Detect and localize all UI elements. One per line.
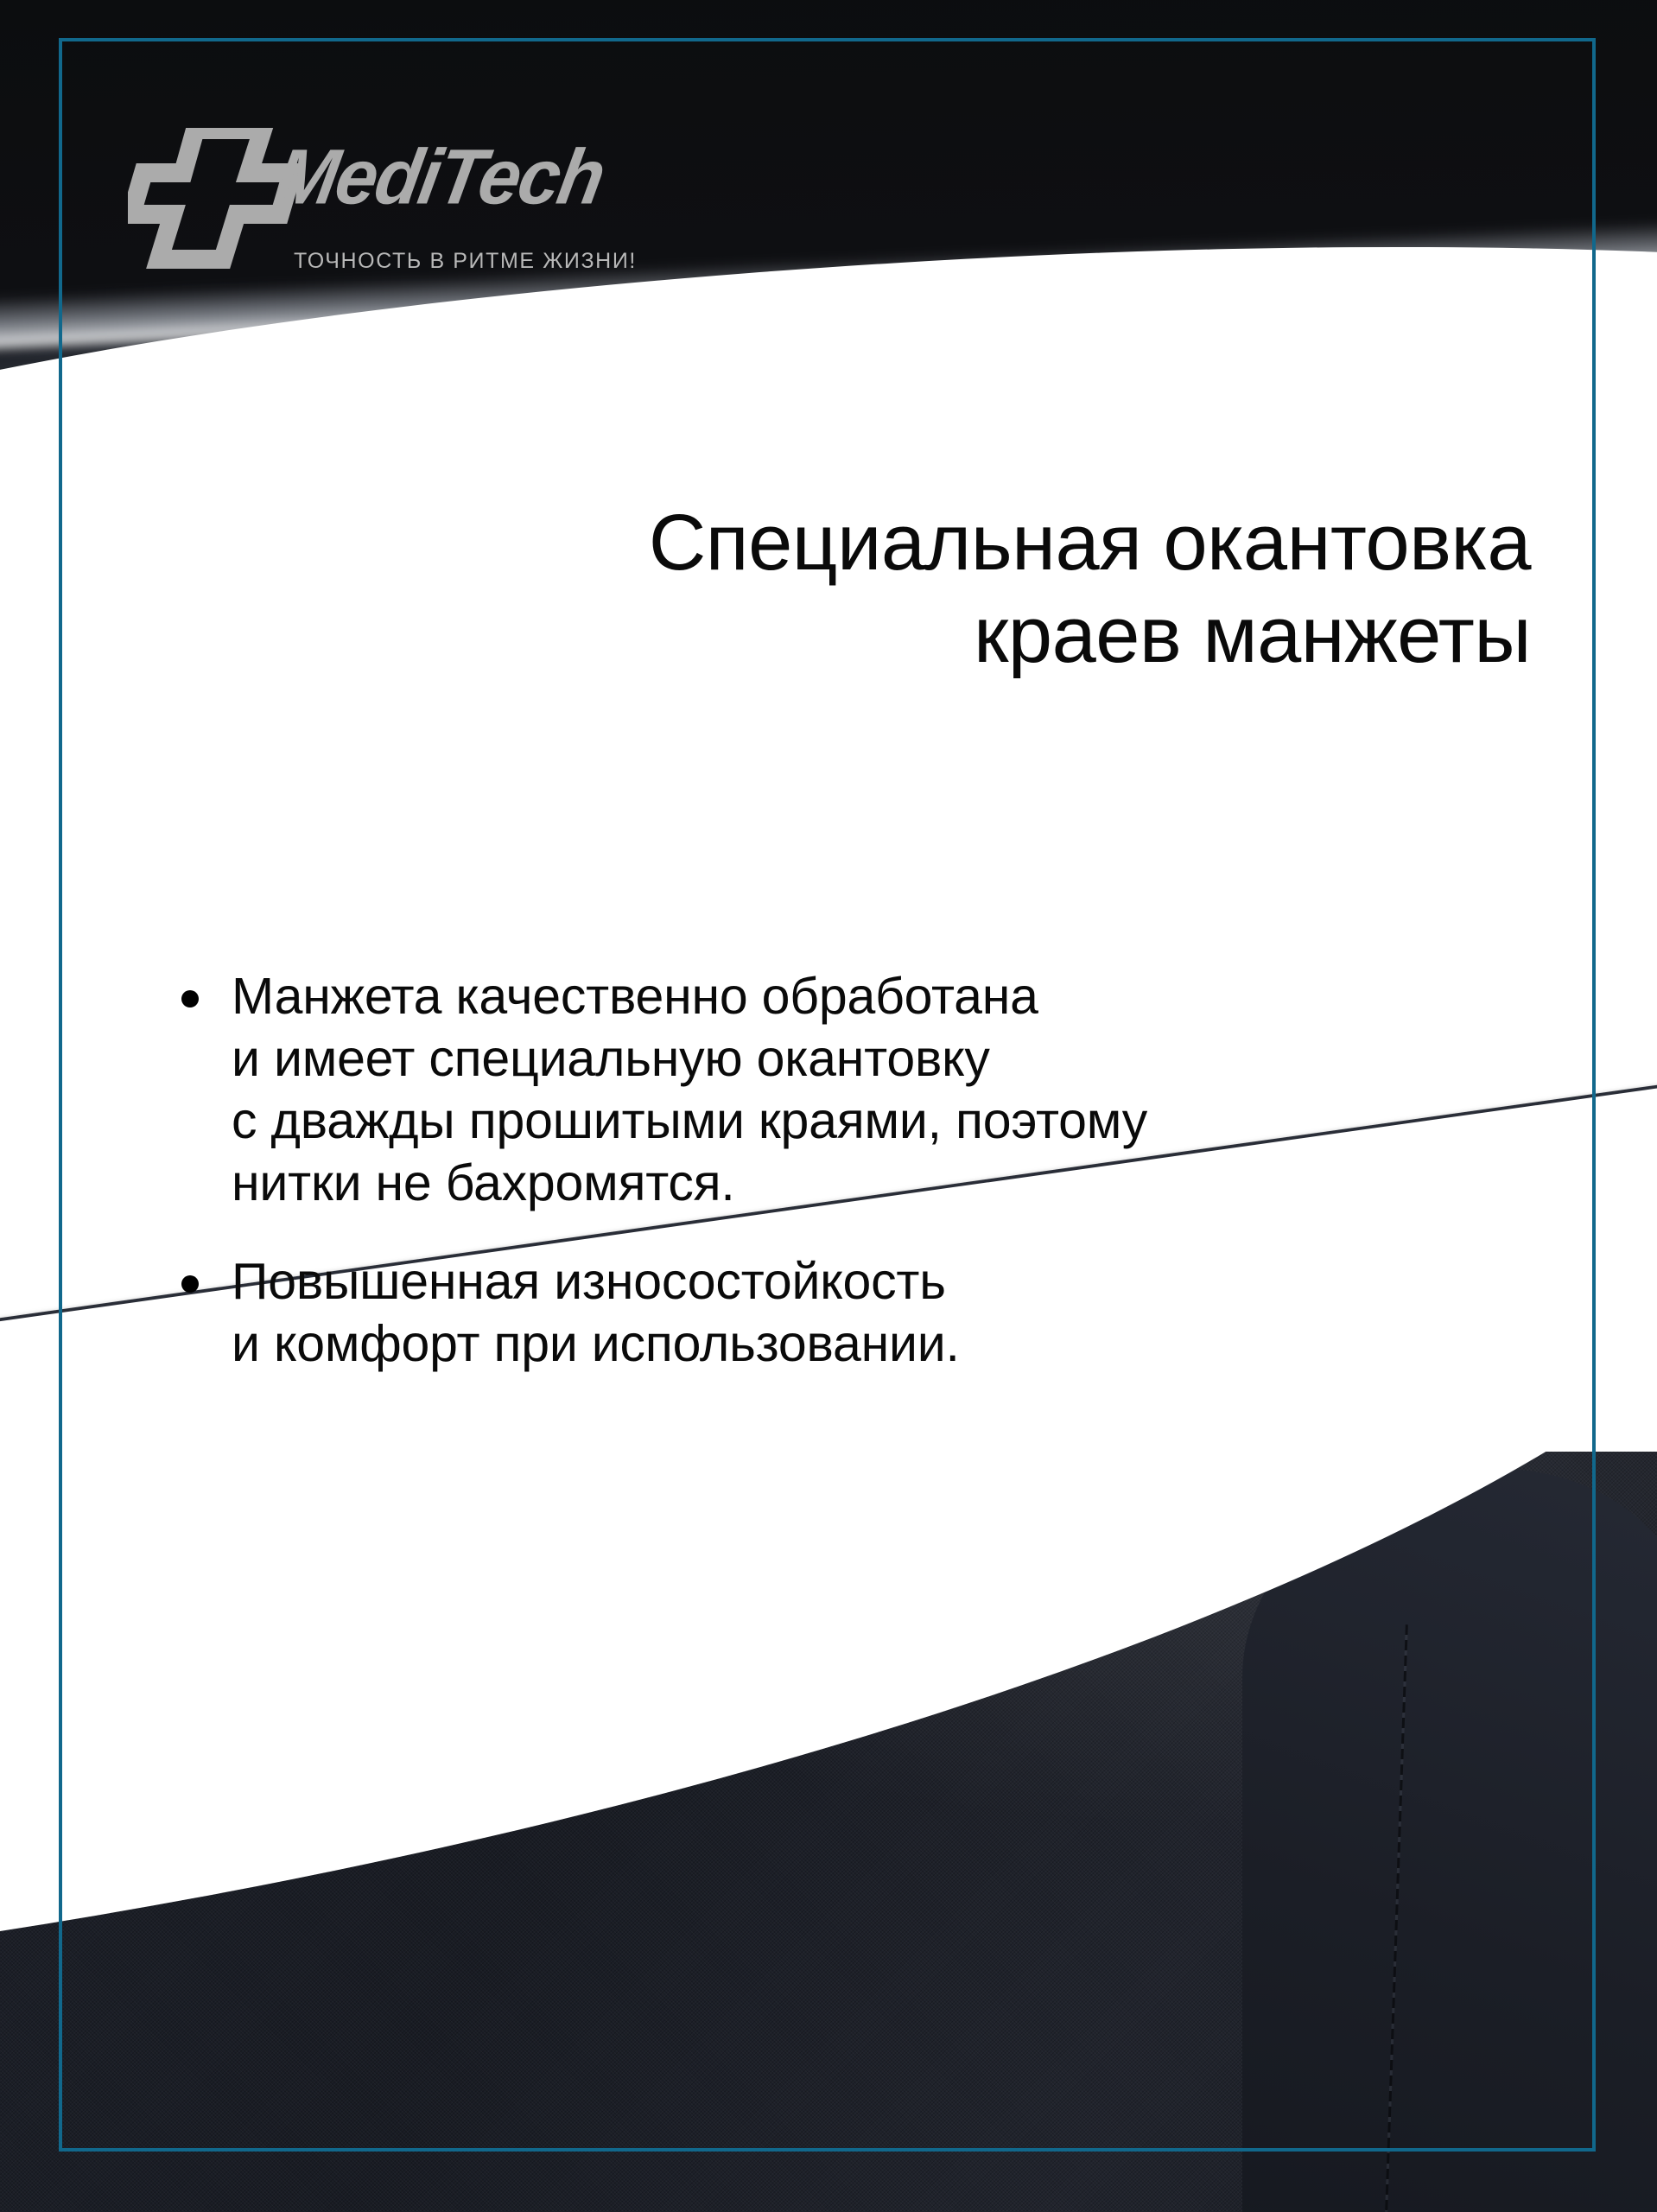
brand-logo: MediTech ТОЧНОСТЬ В РИТМЕ ЖИЗНИ! [128, 128, 663, 275]
bullet-text: Повышенная износостойкость и комфорт при… [232, 1251, 960, 1376]
slide-root: MediTech ТОЧНОСТЬ В РИТМЕ ЖИЗНИ! Специал… [0, 0, 1657, 2212]
bullet-list: Манжета качественно обработана и имеет с… [181, 966, 1529, 1412]
bullet-dot-icon [181, 990, 199, 1007]
bullet-dot-icon [181, 1275, 199, 1293]
logo-tagline: ТОЧНОСТЬ В РИТМЕ ЖИЗНИ! [294, 249, 637, 274]
bullet-text: Манжета качественно обработана и имеет с… [232, 966, 1147, 1215]
cuff-rounded-corner [1242, 1469, 1657, 2212]
list-item: Манжета качественно обработана и имеет с… [181, 966, 1529, 1215]
logo-wordmark: MediTech [269, 133, 611, 223]
page-title: Специальная окантовка краев манжеты [484, 497, 1531, 681]
list-item: Повышенная износостойкость и комфорт при… [181, 1251, 1529, 1376]
